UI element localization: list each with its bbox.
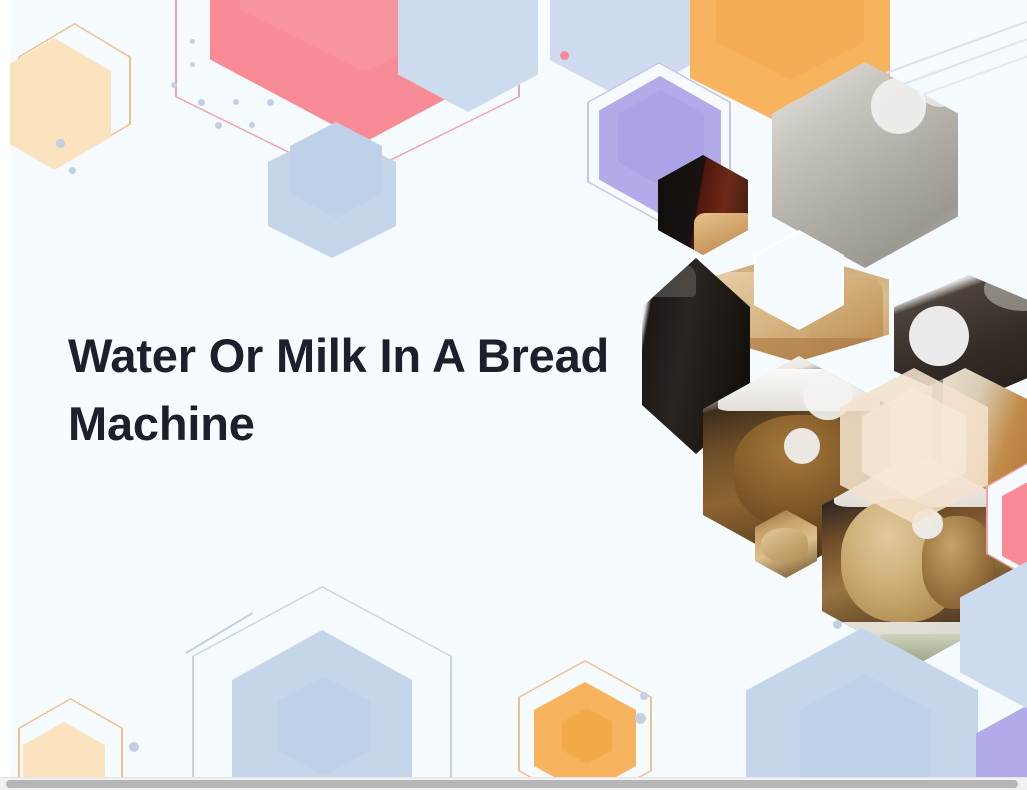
page-root: Water Or Milk In A Bread Machine: [0, 0, 1027, 790]
article-hero-banner: Water Or Milk In A Bread Machine: [10, 0, 1027, 778]
horizontal-scrollbar-thumb[interactable]: [6, 780, 1018, 788]
decorative-dot: [171, 82, 177, 88]
lens-flare-blob: [871, 78, 927, 134]
decorative-dot: [190, 39, 195, 44]
decorative-dot: [56, 139, 65, 148]
decorative-dot: [69, 167, 76, 174]
highlight-blob: [784, 428, 820, 464]
hero-heading-block: Water Or Milk In A Bread Machine: [68, 322, 668, 458]
decorative-dot: [833, 620, 842, 629]
decorative-dot: [640, 692, 648, 700]
decorative-dot: [129, 742, 139, 752]
page-title: Water Or Milk In A Bread Machine: [68, 322, 668, 458]
horizontal-scrollbar-track[interactable]: [0, 777, 1027, 790]
decorative-dot: [215, 122, 222, 129]
decorative-dot: [198, 99, 205, 106]
decorative-dot: [560, 51, 569, 60]
knob-blob: [909, 306, 969, 366]
decorative-dot: [249, 122, 255, 128]
hex-purple-bottomright: [976, 700, 1027, 778]
decorative-dot: [635, 713, 646, 724]
decorative-dot: [233, 99, 239, 105]
decorative-dot: [267, 99, 274, 106]
decorative-dot: [190, 62, 195, 67]
